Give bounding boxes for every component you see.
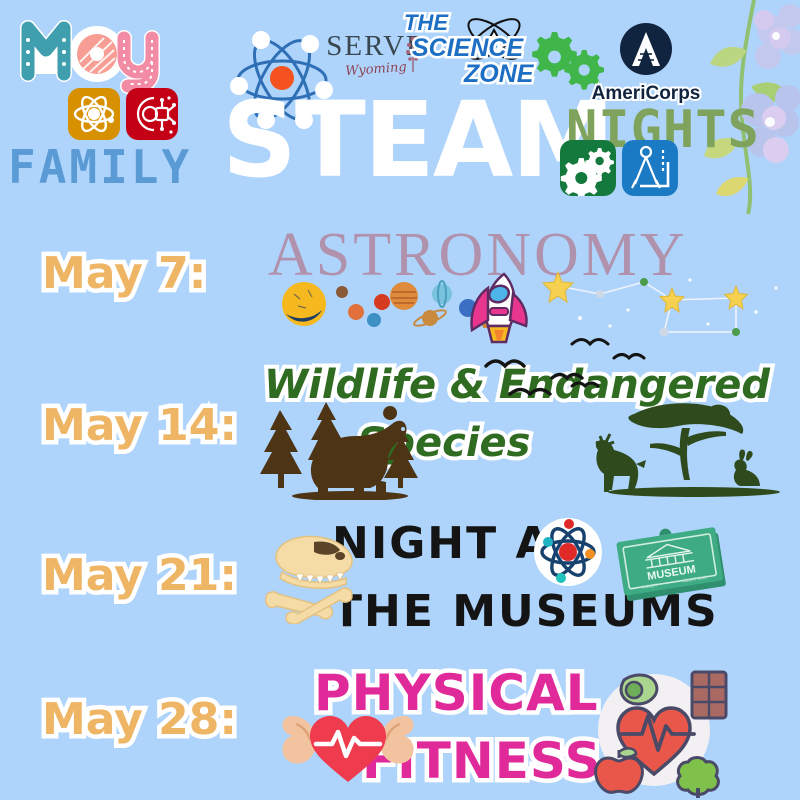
event-date-2: May 14: bbox=[42, 400, 237, 451]
chocolate-bar-icon bbox=[692, 672, 726, 718]
event-row-museums: May 21: NIGHT AT THE MUSEUMS bbox=[0, 502, 800, 656]
atom-icon bbox=[532, 516, 604, 588]
program-word-family: FAMILY bbox=[8, 140, 192, 194]
program-word-steam: STEAM bbox=[222, 88, 613, 192]
mini-icon-row bbox=[68, 88, 178, 140]
nights-icon-row bbox=[560, 140, 678, 196]
apple-icon bbox=[596, 748, 643, 792]
gears-icon bbox=[560, 140, 616, 196]
dinosaur-skull-icon bbox=[252, 524, 362, 624]
science-zone-line-science: SCIENCE bbox=[412, 34, 523, 63]
event-row-fitness: May 28: PHYSICAL FITNESS bbox=[0, 658, 800, 800]
flexing-arms-heart-icon bbox=[278, 702, 418, 788]
rocket-icon bbox=[458, 268, 538, 348]
flyer-canvas: FAMILY SERVE Wyoming bbox=[0, 0, 800, 800]
health-nutrition-icon bbox=[566, 664, 742, 798]
may-month-sticker bbox=[12, 2, 192, 94]
museum-ticket-icon: MUSEUM TICKET ADMIT ONE bbox=[612, 518, 732, 608]
event-date-4: May 28: bbox=[42, 694, 237, 745]
event-row-wildlife: May 14: Wildlife & Endangered Species bbox=[0, 352, 800, 500]
event-date-3: May 21: bbox=[42, 550, 237, 601]
broccoli-icon bbox=[678, 758, 719, 799]
americorps-mark-icon bbox=[619, 22, 673, 76]
birds-flock-icon bbox=[480, 352, 610, 414]
bear-scene-icon bbox=[258, 396, 448, 500]
atom-icon bbox=[68, 88, 120, 140]
science-zone-line-the: THE bbox=[404, 10, 448, 36]
event-date-1: May 7: bbox=[42, 248, 206, 299]
circuit-gear-icon bbox=[126, 88, 178, 140]
avocado-icon bbox=[621, 675, 657, 704]
drafting-compass-icon bbox=[622, 140, 678, 196]
event-row-astronomy: May 7: ASTRONOMY bbox=[0, 214, 800, 348]
flyer-header: FAMILY SERVE Wyoming bbox=[0, 0, 800, 210]
